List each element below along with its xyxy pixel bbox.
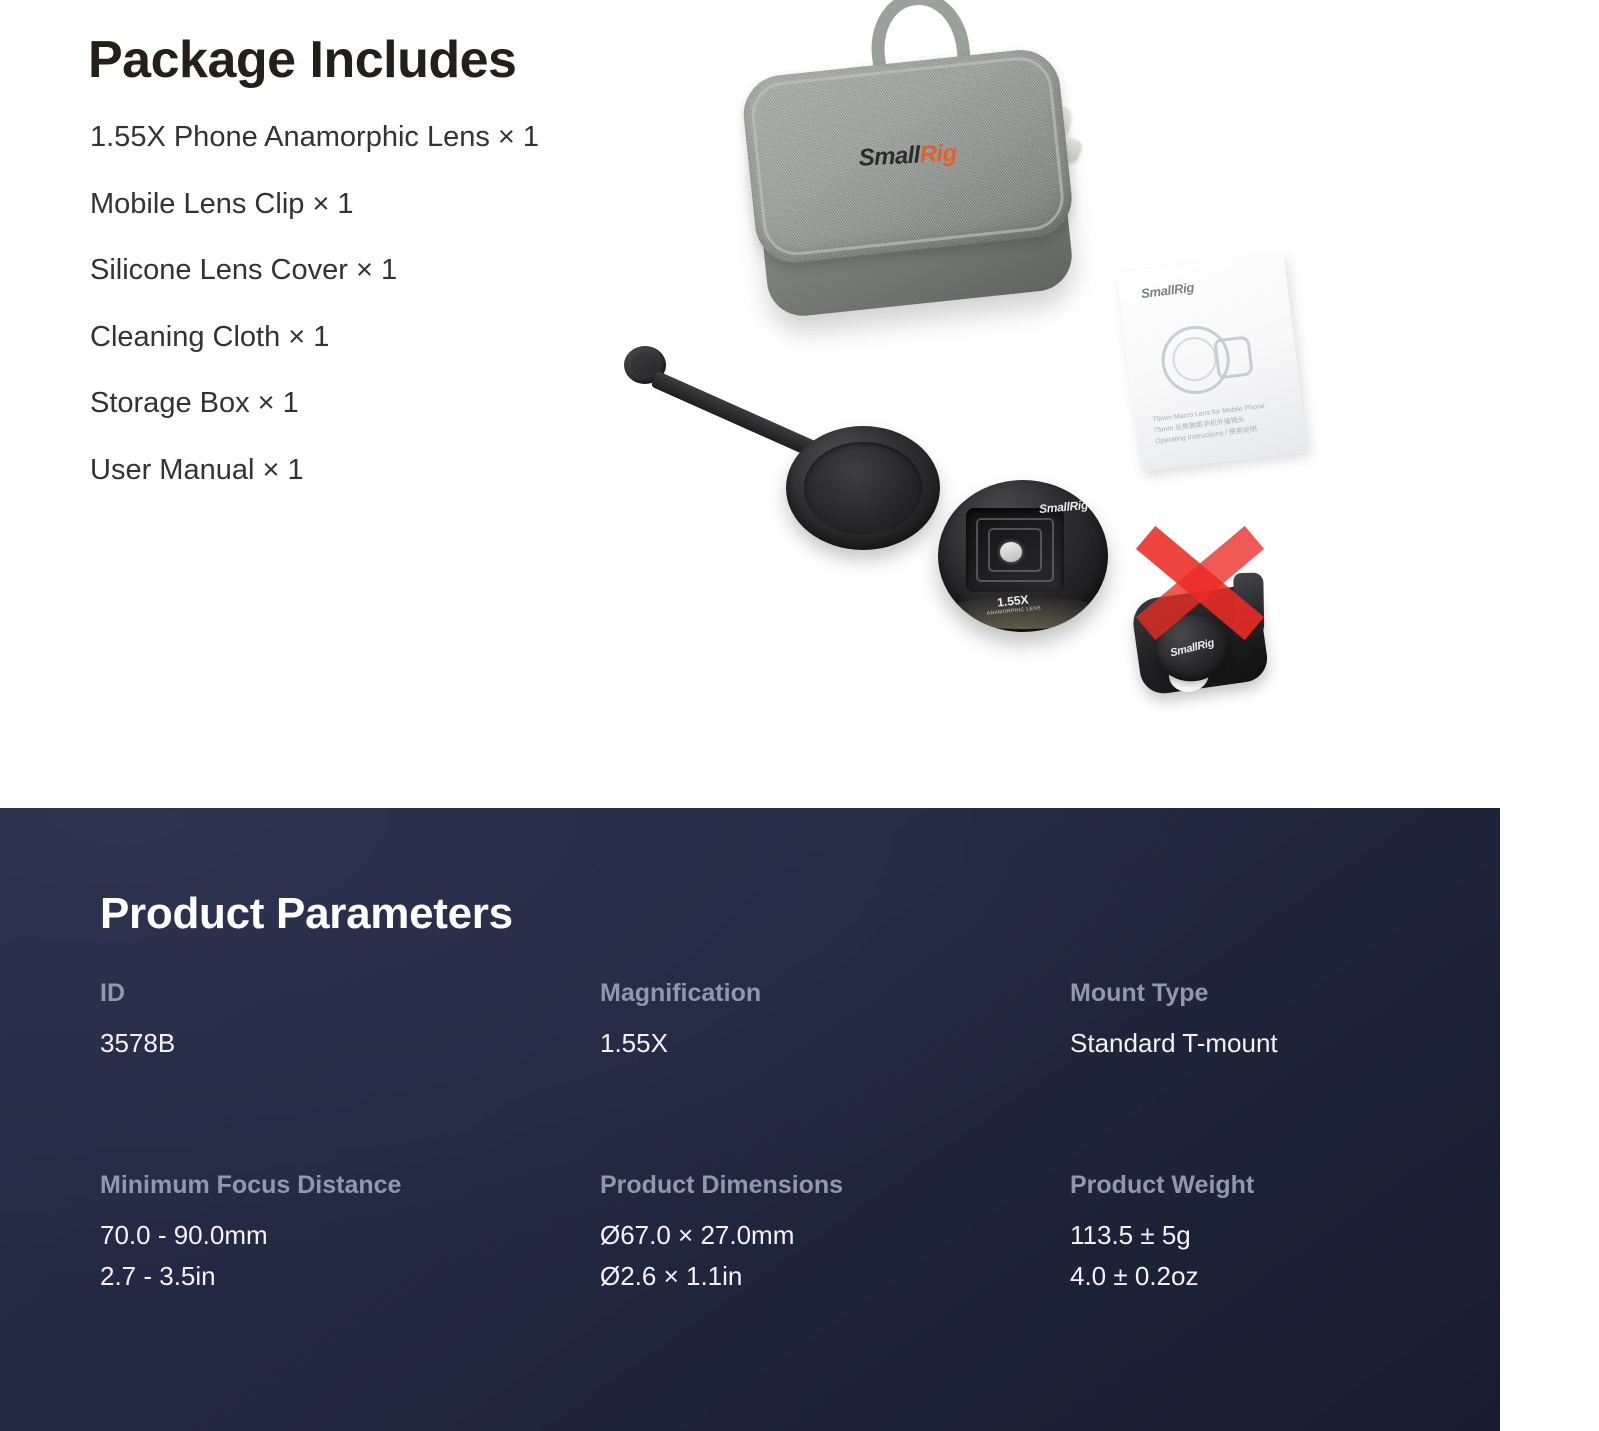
- parameter-cell-product-weight: Product Weight 113.5 ± 5g 4.0 ± 0.2oz: [1070, 1170, 1440, 1297]
- product-parameters-heading: Product Parameters: [100, 889, 513, 939]
- case-body: SmallRig: [740, 46, 1083, 330]
- parameter-cell-magnification: Magnification 1.55X: [600, 978, 1070, 1064]
- lens-cover-strap: [651, 371, 819, 458]
- list-item: Silicone Lens Cover × 1: [90, 237, 539, 304]
- parameter-value-line-1: 70.0 - 90.0mm: [100, 1215, 600, 1256]
- list-item: User Manual × 1: [90, 437, 539, 504]
- case-top-shell: SmallRig: [740, 46, 1076, 266]
- logo-text-rig: Rig: [919, 140, 957, 169]
- parameter-value-line-2: 4.0 ± 0.2oz: [1070, 1256, 1440, 1297]
- parameter-value: Standard T-mount: [1070, 1023, 1440, 1064]
- lens-magnification-label: 1.55X ANAMORPHIC LENS: [985, 591, 1041, 617]
- list-item: Mobile Lens Clip × 1: [90, 171, 539, 238]
- lens-type-sub-label: ANAMORPHIC LENS: [987, 605, 1042, 617]
- clip-arm: [1233, 573, 1264, 640]
- product-parameters-section: Product Parameters ID 3578B Magnificatio…: [0, 808, 1500, 1431]
- logo-text-small: Small: [858, 142, 920, 172]
- silicone-lens-cover-image: [786, 426, 940, 550]
- manual-brand-logo: SmallRig: [1140, 280, 1195, 301]
- package-includes-list: 1.55X Phone Anamorphic Lens × 1 Mobile L…: [90, 104, 539, 503]
- parameter-value-line-1: Ø67.0 × 27.0mm: [600, 1215, 1070, 1256]
- lens-brand-label: SmallRig: [1039, 498, 1089, 516]
- list-item: 1.55X Phone Anamorphic Lens × 1: [90, 104, 539, 171]
- parameter-cell-minimum-focus-distance: Minimum Focus Distance 70.0 - 90.0mm 2.7…: [100, 1170, 600, 1297]
- parameter-row: Minimum Focus Distance 70.0 - 90.0mm 2.7…: [100, 1170, 1440, 1297]
- parameter-cell-product-dimensions: Product Dimensions Ø67.0 × 27.0mm Ø2.6 ×…: [600, 1170, 1070, 1297]
- parameter-value-line-2: 2.7 - 3.5in: [100, 1256, 600, 1297]
- clip-brand-label: SmallRig: [1169, 637, 1215, 659]
- parameter-value: Ø67.0 × 27.0mm Ø2.6 × 1.1in: [600, 1215, 1070, 1297]
- package-includes-section: Package Includes 1.55X Phone Anamorphic …: [0, 0, 1599, 808]
- parameter-cell-mount-type: Mount Type Standard T-mount: [1070, 978, 1440, 1064]
- parameter-cell-id: ID 3578B: [100, 978, 600, 1064]
- parameter-value: 1.55X: [600, 1023, 1070, 1064]
- parameter-label: Minimum Focus Distance: [100, 1170, 600, 1201]
- anamorphic-lens-image: SmallRig 1.55X ANAMORPHIC LENS: [938, 480, 1108, 632]
- manual-lens-illustration: [1158, 319, 1257, 396]
- parameter-label: Mount Type: [1070, 978, 1440, 1009]
- list-item: Storage Box × 1: [90, 370, 539, 437]
- package-includes-heading: Package Includes: [88, 31, 516, 89]
- product-photo: SmallRig SmallRig 75mm Macro Lens for Mo…: [600, 0, 1360, 730]
- parameter-label: Magnification: [600, 978, 1070, 1009]
- manual-caption: 75mm Macro Lens for Mobile Phone 75mm 长焦…: [1152, 398, 1291, 447]
- parameter-label: ID: [100, 978, 600, 1009]
- smallrig-logo: SmallRig: [858, 140, 957, 173]
- parameter-value: 113.5 ± 5g 4.0 ± 0.2oz: [1070, 1215, 1440, 1297]
- parameter-value: 3578B: [100, 1023, 600, 1064]
- user-manual-image: SmallRig 75mm Macro Lens for Mobile Phon…: [1116, 253, 1307, 472]
- mobile-lens-clip-image: SmallRig: [1119, 549, 1278, 701]
- parameter-label: Product Weight: [1070, 1170, 1440, 1201]
- parameter-value-line-2: Ø2.6 × 1.1in: [600, 1256, 1070, 1297]
- storage-case-image: SmallRig: [710, 0, 1110, 350]
- parameter-value-line-1: 113.5 ± 5g: [1070, 1215, 1440, 1256]
- parameter-row: ID 3578B Magnification 1.55X Mount Type …: [100, 978, 1440, 1064]
- lens-glass-element: [1000, 542, 1022, 562]
- parameter-value: 70.0 - 90.0mm 2.7 - 3.5in: [100, 1215, 600, 1297]
- manual-lens-tab: [1213, 335, 1254, 379]
- list-item: Cleaning Cloth × 1: [90, 304, 539, 371]
- parameter-label: Product Dimensions: [600, 1170, 1070, 1201]
